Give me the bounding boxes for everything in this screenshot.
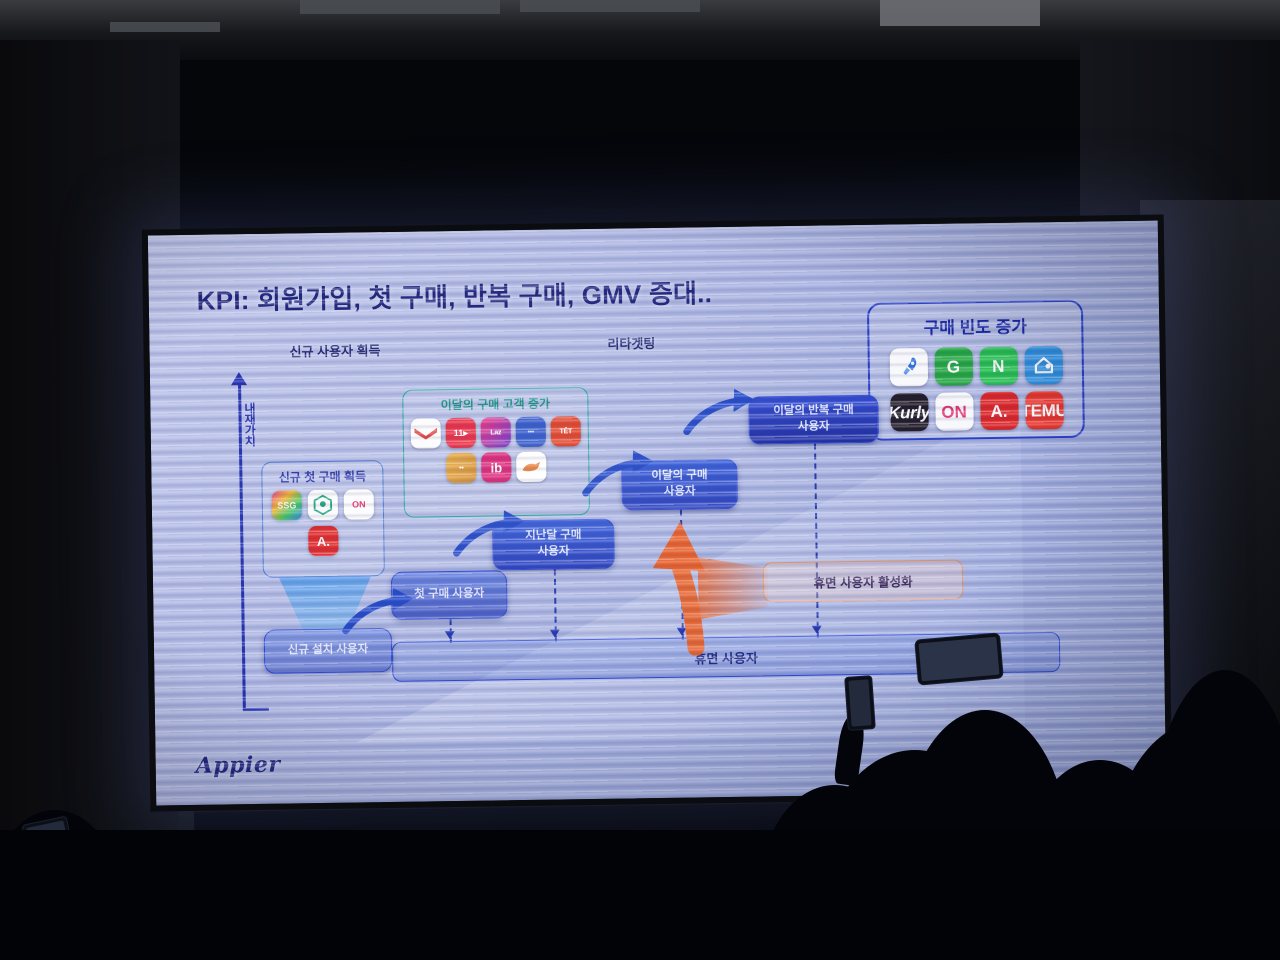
reactivation-callout: 휴면 사용자 활성화: [763, 559, 964, 602]
panel-title-retargeting: 이달의 구매 고객 증가: [403, 394, 587, 414]
lazada-icon: Laz: [481, 417, 511, 447]
page-title: KPI: 회원가입, 첫 구매, 반복 구매, GMV 증대..: [197, 273, 713, 318]
auction-a-icon: A.: [980, 392, 1019, 431]
interpark-icon: •••: [516, 417, 546, 447]
lotte-on-icon: ON: [935, 392, 974, 431]
panel-new-first-purchase: 신규 첫 구매 획득 SSG ON A.: [261, 460, 385, 578]
rocket-icon: [889, 348, 928, 387]
ceiling-panel: [300, 0, 500, 14]
flow-arrow-thismonth-to-repeat: [682, 384, 759, 437]
connector-arrow: [812, 626, 822, 634]
kurly-icon: Kurly: [890, 393, 929, 432]
flow-arrow-install-to-first: [341, 584, 418, 637]
panel-monthly-buyer-growth: 이달의 구매 고객 증가 11▸ Laz ••• TÊT •• ib: [402, 387, 590, 518]
ssg-icon: SSG: [272, 490, 302, 520]
flow-arrow-first-to-lastmonth: [452, 506, 529, 559]
screen-leg: [178, 806, 194, 832]
lotte-on-icon: ON: [344, 489, 374, 519]
ceiling-panel: [110, 22, 220, 32]
presentation-slide: KPI: 회원가입, 첫 구매, 반복 구매, GMV 증대.. 신규 사용자 …: [148, 221, 1166, 806]
brand-logo: Appier: [196, 752, 281, 779]
shopee-tet-icon: TÊT: [551, 416, 581, 446]
ceiling-panel: [520, 0, 700, 12]
ohouse-icon: [1024, 346, 1063, 385]
ceiling-panel: [880, 0, 1040, 26]
auction-a-icon: A.: [308, 526, 338, 556]
connector-arrow: [445, 631, 455, 639]
connector-arrow: [550, 629, 560, 637]
app-icon-grid-frequency: G N Kurly ON A. TEMU: [870, 346, 1083, 432]
photo-scene: KPI: 회원가입, 첫 구매, 반복 구매, GMV 증대.. 신규 사용자 …: [0, 0, 1280, 960]
panel-title-frequency: 구매 빈도 증가: [869, 312, 1081, 340]
panel-title-acquisition: 신규 첫 구매 획득: [262, 467, 382, 486]
coupang-dog-icon: [516, 452, 546, 482]
gold-app-icon: ••: [446, 453, 476, 483]
section-label-acquisition: 신규 사용자 획득: [289, 340, 380, 360]
section-label-retargeting: 리타겟팅: [607, 333, 655, 353]
temu-icon: TEMU: [1025, 391, 1064, 430]
eleven-street-icon: 11▸: [446, 418, 476, 448]
app-icon-grid-retargeting: 11▸ Laz ••• TÊT •• ib: [404, 416, 589, 484]
y-axis-label: 내재가치: [198, 402, 259, 447]
amazon-icon: [411, 418, 441, 448]
ib-icon: ib: [481, 452, 511, 482]
y-axis-base: [243, 708, 269, 711]
panel-purchase-frequency: 구매 빈도 증가 G N: [867, 300, 1085, 441]
naver-n-icon: N: [979, 347, 1018, 386]
flow-arrow-lastmonth-to-thismonth: [581, 446, 658, 499]
flow-box-repeat-buyers: 이달의 반복 구매사용자: [748, 395, 879, 445]
projection-screen: KPI: 회원가입, 첫 구매, 반복 구매, GMV 증대.. 신규 사용자 …: [148, 221, 1166, 806]
gmarket-g-icon: G: [934, 347, 973, 386]
reactivation-arrow: [634, 515, 746, 657]
hexagon-app-icon: [308, 490, 338, 520]
app-icon-grid-acquisition: SSG ON A.: [263, 489, 384, 557]
